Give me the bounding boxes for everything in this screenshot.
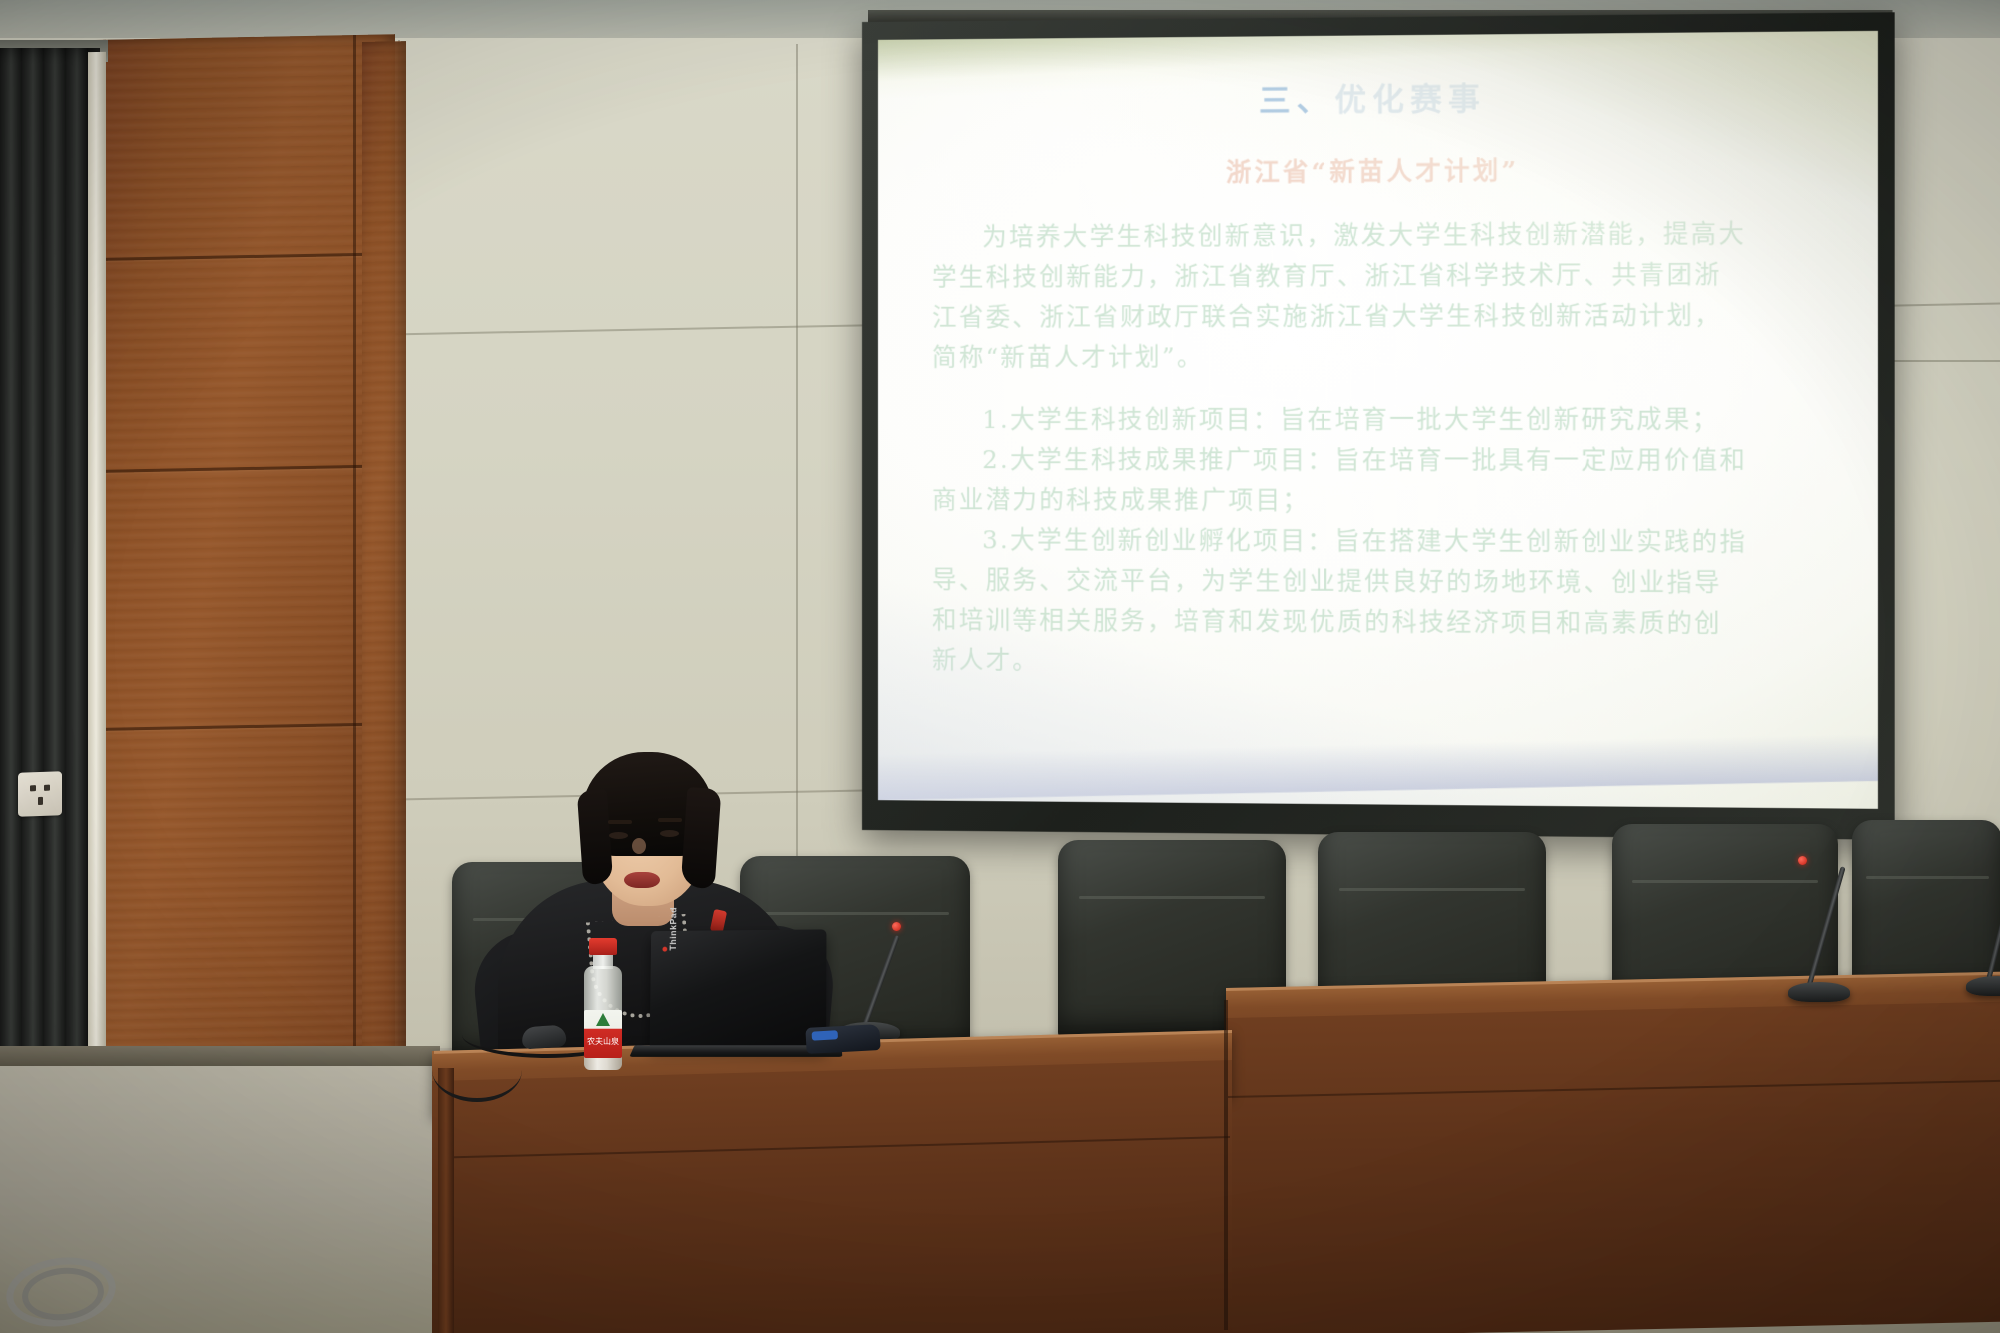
conference-table-front (432, 1060, 1232, 1333)
folding-partition-wall[interactable] (0, 48, 100, 1078)
wood-panel-wall (95, 34, 395, 1100)
wall-power-outlet[interactable] (18, 771, 62, 817)
list-item-continued: 新人才。 (932, 640, 1832, 685)
presenter-eye (660, 830, 679, 837)
wall-panel-seam (796, 44, 798, 944)
baseboard (0, 1046, 440, 1066)
bottle-label-text: 农夫山泉 (584, 1036, 622, 1047)
presentation-slide: 三、优化赛事 浙江省“新苗人才计划” 为培养大学生科技创新意识，激发大学生科技创… (878, 31, 1878, 809)
computer-mouse[interactable] (521, 1024, 566, 1049)
presenter-mouth (624, 872, 660, 888)
list-item-continued: 导、服务、交流平台，为学生创业提供良好的场地环境、创业指导 (932, 560, 1832, 604)
microphone-led (892, 922, 901, 931)
presenter-eyebrow (658, 818, 682, 822)
presenter-eye (609, 832, 628, 839)
stapler-accent (812, 1030, 838, 1040)
wood-seam (95, 252, 395, 261)
gooseneck-microphone-base[interactable] (1788, 982, 1850, 1002)
list-item: 2.大学生科技成果推广项目：旨在培育一批具有一定应用价值和 (932, 440, 1832, 481)
thinkpad-logo-dot (662, 947, 667, 952)
slide-body: 为培养大学生科技创新意识，激发大学生科技创新潜能，提高大 学生科技创新能力，浙江… (932, 213, 1832, 685)
list-item: 1.大学生科技创新项目：旨在培育一批大学生创新研究成果； (932, 399, 1832, 440)
slide-title-text: 优化赛事 (1334, 81, 1486, 119)
microphone-led (1798, 856, 1807, 865)
laptop-brand-logo: ThinkPad (668, 907, 678, 951)
list-item-continued: 和培训等相关服务，培育和发现优质的科技经济项目和高素质的创 (932, 600, 1832, 645)
intro-line: 为培养大学生科技创新意识，激发大学生科技创新潜能，提高大 (932, 213, 1832, 257)
wood-seam (95, 464, 395, 473)
list-item-continued: 商业潜力的科技成果推广项目； (932, 480, 1832, 522)
slide-title-number: 三、 (1259, 82, 1334, 119)
conference-table-front (1226, 1002, 2000, 1333)
bottle-label: 农夫山泉 (584, 1010, 622, 1058)
spacer (932, 377, 1832, 400)
wood-panel-strip (362, 41, 406, 1072)
bottle-label-mountain-icon (596, 1013, 610, 1026)
desk-stapler[interactable] (805, 1024, 880, 1054)
intro-line: 江省委、浙江省财政厅联合实施浙江省大学生科技创新活动计划， (932, 295, 1832, 338)
socket-hole (30, 785, 36, 791)
projection-screen: 三、优化赛事 浙江省“新苗人才计划” 为培养大学生科技创新意识，激发大学生科技创… (862, 12, 1895, 839)
table-leg (438, 1068, 454, 1333)
wood-seam (353, 35, 356, 1095)
desk-cable (432, 1038, 522, 1102)
list-item: 3.大学生创新创业孵化项目：旨在搭建大学生创新创业实践的指 (932, 520, 1832, 563)
bottle-cap[interactable] (589, 938, 617, 955)
presenter-hair-side (681, 787, 722, 889)
slide-subtitle: 浙江省“新苗人才计划” (878, 149, 1878, 191)
bottle-neck (593, 953, 613, 969)
socket-hole (44, 785, 50, 791)
conference-room-scene: 三、优化赛事 浙江省“新苗人才计划” 为培养大学生科技创新意识，激发大学生科技创… (0, 0, 2000, 1333)
presenter-nose (632, 838, 646, 854)
water-bottle[interactable]: 农夫山泉 (582, 938, 624, 1070)
socket-hole (38, 797, 43, 805)
intro-line: 简称“新苗人才计划”。 (932, 336, 1832, 378)
laptop-screen-lid[interactable]: ThinkPad (650, 929, 827, 1049)
presenter-eyebrow (608, 820, 632, 824)
intro-line: 学生科技创新能力，浙江省教育厅、浙江省科学技术厅、共青团浙 (932, 254, 1832, 298)
partition-edge-trim (88, 52, 106, 1062)
table-section-seam (1224, 1000, 1228, 1330)
wood-seam (95, 722, 395, 731)
projection-screen-surface: 三、优化赛事 浙江省“新苗人才计划” 为培养大学生科技创新意识，激发大学生科技创… (878, 31, 1878, 809)
